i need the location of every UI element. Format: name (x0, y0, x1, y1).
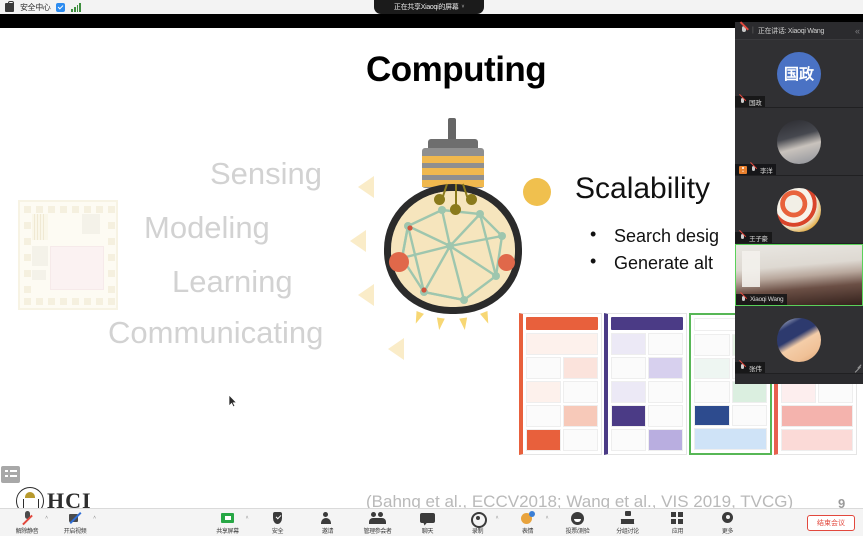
toolbar-label: 开启视频 (64, 526, 86, 535)
thumbnail-infographic-orange[interactable] (519, 313, 602, 455)
avatar (777, 120, 821, 164)
mouse-cursor (229, 395, 237, 406)
toolbar-label: 管理参会者 (363, 526, 391, 535)
thumbnail-infographic-purple[interactable] (604, 313, 687, 455)
toolbar-record-button[interactable]: ˄ 录制 (461, 511, 495, 535)
video-tile[interactable]: 张伟 (735, 306, 863, 374)
toolbar-manage-participants-button[interactable]: 管理参会者 (361, 511, 395, 535)
graph-node-large (498, 254, 515, 271)
chevron-up-icon[interactable]: ˄ (246, 515, 249, 521)
os-app-label: 安全中心 (20, 2, 50, 13)
avatar: 国政 (777, 52, 821, 96)
participant-badge: 李洋 (735, 164, 776, 175)
word-learning: Learning (172, 264, 293, 300)
shield-check-icon[interactable] (56, 3, 65, 12)
breakout-icon (620, 511, 635, 525)
arrow-left-icon (350, 230, 366, 252)
participant-badge: 王子豪 (735, 232, 772, 243)
toolbar-label: 邀请 (322, 526, 333, 535)
video-tile[interactable]: 国政 国政 (735, 40, 863, 108)
toolbar-label: 更多 (722, 526, 733, 535)
host-icon (739, 166, 747, 174)
avatar (777, 188, 821, 232)
toolbar-label: 解除静音 (16, 526, 38, 535)
lightbulb-illustration (376, 112, 530, 320)
toolbar-more-button[interactable]: 更多 (711, 511, 745, 535)
section-dot-icon (523, 178, 551, 206)
shield-icon (270, 511, 285, 525)
toolbar-label: 聊天 (422, 526, 433, 535)
lock-icon (5, 3, 14, 12)
toolbar-unmute-button[interactable]: ˄ 解除静音 (10, 511, 44, 535)
chevron-up-icon[interactable]: ˄ (546, 515, 549, 521)
toolbar-label: 投票/测验 (566, 526, 590, 535)
toolbar-label: 应用 (672, 526, 683, 535)
avatar (777, 318, 821, 362)
section-heading: Scalability (575, 172, 710, 206)
participant-badge: 张伟 (735, 362, 765, 373)
arrow-left-icon (388, 338, 404, 360)
video-tile[interactable]: 王子豪 (735, 176, 863, 244)
chat-icon (420, 511, 435, 525)
camera-muted-icon (68, 511, 83, 525)
participant-name: 国政 (749, 97, 761, 107)
mic-muted-icon (739, 98, 746, 106)
mic-muted-icon (739, 234, 746, 242)
toolbar-label: 表情 (522, 526, 533, 535)
participant-badge: Xiaoqi Wang (736, 294, 787, 305)
toolbar-apps-button[interactable]: 应用 (661, 511, 695, 535)
hci-logo-text: HCI (47, 488, 92, 508)
header-divider: | (752, 27, 754, 34)
citation-text: (Bahng et al., ECCV2018; Wang et al., VI… (366, 492, 793, 508)
mic-muted-icon (739, 364, 746, 372)
mic-muted-icon (740, 296, 747, 304)
video-tile[interactable]: 李洋 (735, 108, 863, 176)
annotation-menu-icon[interactable] (1, 466, 20, 483)
slide-page-number: 9 (838, 496, 845, 508)
apps-icon (670, 511, 685, 525)
toolbar-label: 录制 (472, 526, 483, 535)
institution-logo: HCI (16, 484, 126, 508)
mic-muted-icon (20, 511, 35, 525)
zoom-meeting-screen: 安全中心 正在共享Xiaoqi的屏幕 ˅ Computing (0, 0, 863, 536)
toolbar-label: 分组讨论 (616, 526, 638, 535)
arrow-left-icon (358, 284, 374, 306)
participant-name: Xiaoqi Wang (750, 296, 783, 303)
reactions-icon (520, 511, 535, 525)
process-word-column: Sensing Modeling Learning Communicating (0, 14, 420, 374)
list-item: Search desig (580, 226, 719, 247)
active-speaker-header: | 正在讲话: Xiaoqi Wang « (735, 22, 863, 40)
participant-name: 李洋 (760, 165, 772, 175)
end-meeting-button[interactable]: 结束会议 (807, 515, 855, 531)
word-modeling: Modeling (144, 210, 270, 246)
bullet-list: Search desig Generate alt (580, 226, 719, 280)
toolbar-invite-button[interactable]: 邀请 (311, 511, 345, 535)
participant-badge: 国政 (735, 96, 765, 107)
toolbar-start-video-button[interactable]: ˄ 开启视频 (58, 511, 92, 535)
share-screen-icon (220, 511, 235, 525)
resize-handle[interactable] (852, 362, 862, 372)
sharing-status-text: 正在共享Xiaoqi的屏幕 (394, 2, 459, 12)
active-speaker-label: 正在讲话: Xiaoqi Wang (758, 26, 824, 36)
desktop-black-strip (0, 14, 863, 28)
chevron-down-icon[interactable]: ˅ (461, 4, 464, 10)
toolbar-reactions-button[interactable]: ˄ 表情 (511, 511, 545, 535)
participant-name: 王子豪 (749, 233, 768, 243)
collapse-panel-icon[interactable]: « (855, 26, 858, 36)
mic-muted-icon (740, 26, 748, 35)
toolbar-poll-button[interactable]: 投票/测验 (561, 511, 595, 535)
video-tile-self[interactable]: Xiaoqi Wang (735, 244, 863, 306)
word-communicating: Communicating (108, 315, 323, 351)
toolbar-breakout-button[interactable]: 分组讨论 (611, 511, 645, 535)
arrow-left-icon (358, 176, 374, 198)
list-item: Generate alt (580, 253, 719, 274)
chevron-up-icon[interactable]: ˄ (45, 515, 48, 521)
chevron-up-icon[interactable]: ˄ (93, 515, 96, 521)
toolbar-label: 共享屏幕 (216, 526, 238, 535)
signal-bars-icon (71, 3, 80, 12)
settings-icon (720, 511, 735, 525)
toolbar-chat-button[interactable]: 聊天 (411, 511, 445, 535)
toolbar-security-button[interactable]: 安全 (261, 511, 295, 535)
shared-slide: Computing Sensing Modeling (0, 14, 863, 508)
mic-muted-icon (750, 166, 757, 174)
sharing-status-pill[interactable]: 正在共享Xiaoqi的屏幕 ˅ (374, 0, 484, 14)
whiteboard-icon (570, 511, 585, 525)
university-seal-icon (16, 487, 44, 508)
toolbar-share-screen-button[interactable]: ˄ 共享屏幕 (211, 511, 245, 535)
meeting-toolbar: ˄ 解除静音 ˄ 开启视频 ˄ 共享屏幕 安全 邀请 (0, 508, 863, 536)
toolbar-label: 安全 (272, 526, 283, 535)
graph-node-large (389, 252, 409, 272)
participant-video-panel: | 正在讲话: Xiaoqi Wang « 国政 国政 李洋 王子豪 (735, 22, 863, 384)
participant-icon (320, 511, 335, 525)
word-sensing: Sensing (210, 156, 322, 192)
participant-name: 张伟 (749, 363, 761, 373)
people-icon (370, 511, 385, 525)
chevron-up-icon[interactable]: ˄ (496, 515, 499, 521)
record-icon (470, 511, 485, 525)
